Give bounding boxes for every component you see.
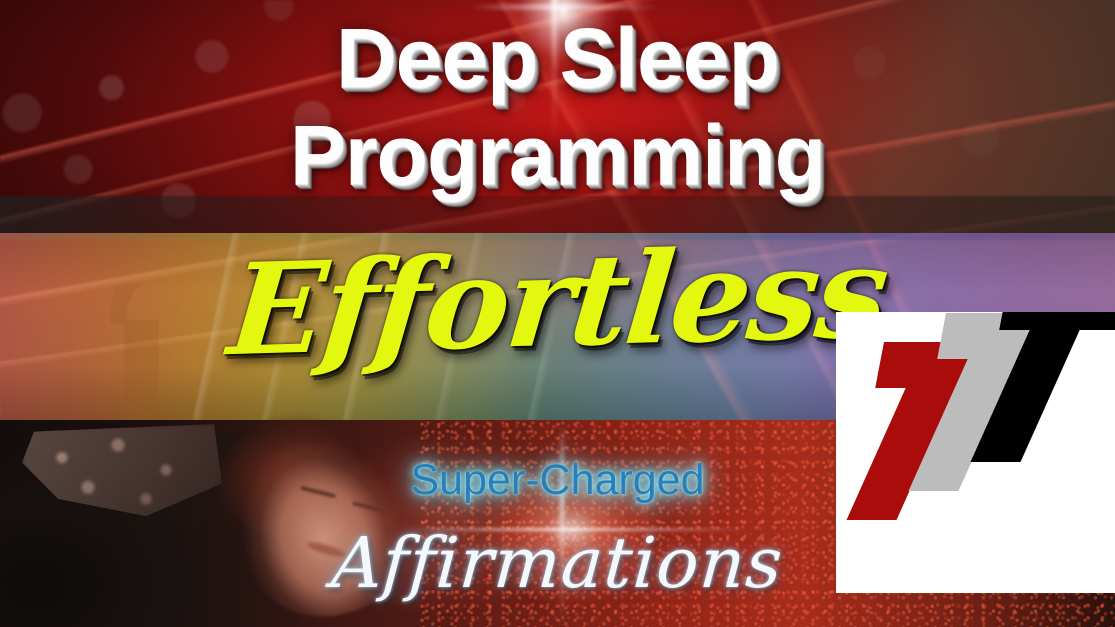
title-line-1: Deep Sleep — [0, 16, 1115, 100]
title-line-2: Programming — [0, 113, 1115, 197]
lens-flare-top-streak-icon — [470, 5, 660, 9]
youtube-thumbnail: Deep Sleep Programming Effortless Super-… — [0, 0, 1115, 627]
ttt-logo-svg — [836, 312, 1115, 593]
ttt-logo[interactable] — [836, 312, 1115, 593]
